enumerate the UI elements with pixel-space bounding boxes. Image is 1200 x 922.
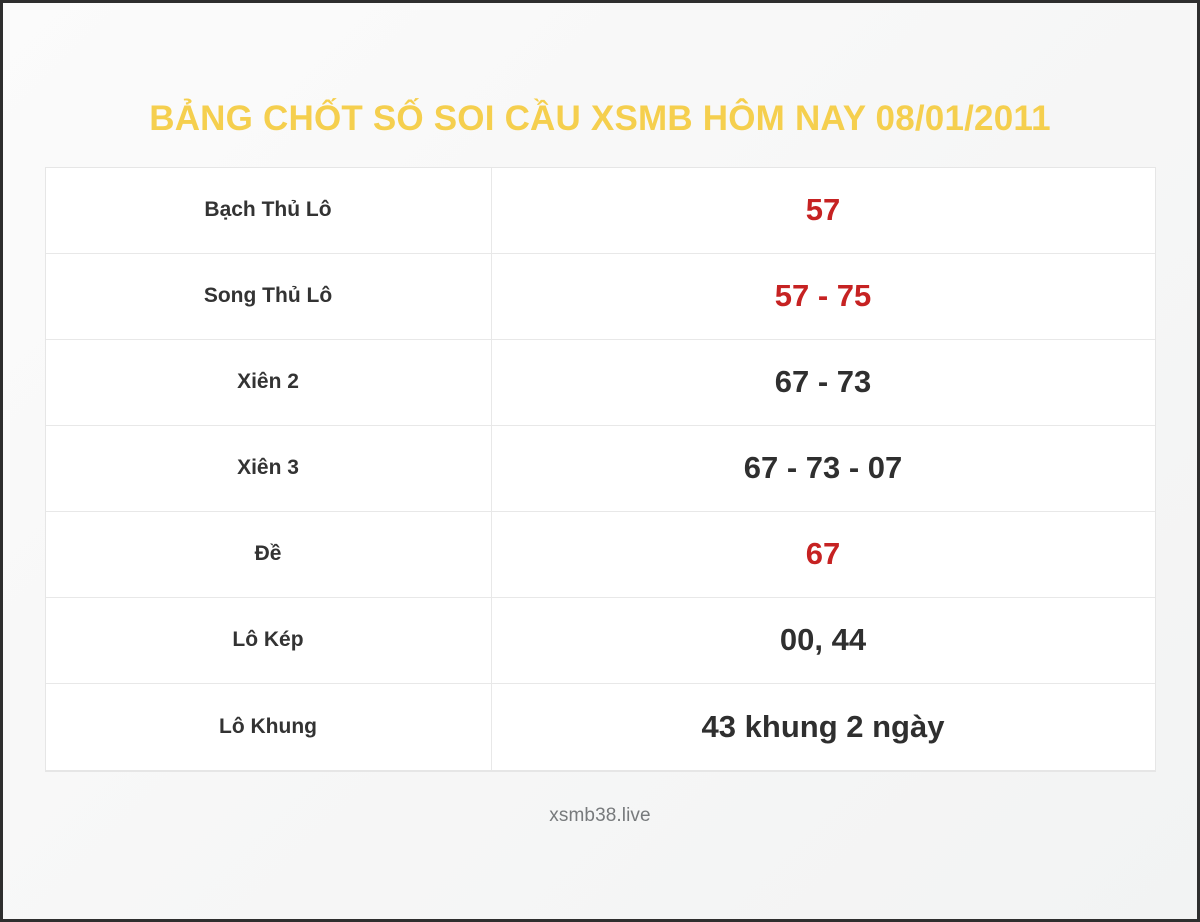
row-label: Đề: [46, 512, 492, 597]
row-value: 00, 44: [492, 598, 1155, 683]
prediction-table: Bạch Thủ Lô57Song Thủ Lô57 - 75Xiên 267 …: [45, 167, 1156, 772]
row-value: 43 khung 2 ngày: [492, 684, 1155, 770]
table-row: Bạch Thủ Lô57: [46, 168, 1155, 254]
table-row: Lô Khung43 khung 2 ngày: [46, 684, 1155, 770]
row-label: Xiên 3: [46, 426, 492, 511]
page-title: BẢNG CHỐT SỐ SOI CẦU XSMB HÔM NAY 08/01/…: [149, 101, 1051, 138]
row-label: Xiên 2: [46, 340, 492, 425]
table-row: Xiên 267 - 73: [46, 340, 1155, 426]
row-label: Song Thủ Lô: [46, 254, 492, 339]
table-row: Lô Kép00, 44: [46, 598, 1155, 684]
footer-site-label: xsmb38.live: [549, 805, 650, 827]
row-value: 57: [492, 168, 1155, 253]
row-value: 57 - 75: [492, 254, 1155, 339]
table-row: Đề67: [46, 512, 1155, 598]
row-label: Lô Khung: [46, 684, 492, 770]
row-value: 67 - 73 - 07: [492, 426, 1155, 511]
table-row: Song Thủ Lô57 - 75: [46, 254, 1155, 340]
table-row: Xiên 367 - 73 - 07: [46, 426, 1155, 512]
row-label: Bạch Thủ Lô: [46, 168, 492, 253]
row-value: 67: [492, 512, 1155, 597]
row-label: Lô Kép: [46, 598, 492, 683]
page-container: BẢNG CHỐT SỐ SOI CẦU XSMB HÔM NAY 08/01/…: [0, 0, 1200, 922]
row-value: 67 - 73: [492, 340, 1155, 425]
